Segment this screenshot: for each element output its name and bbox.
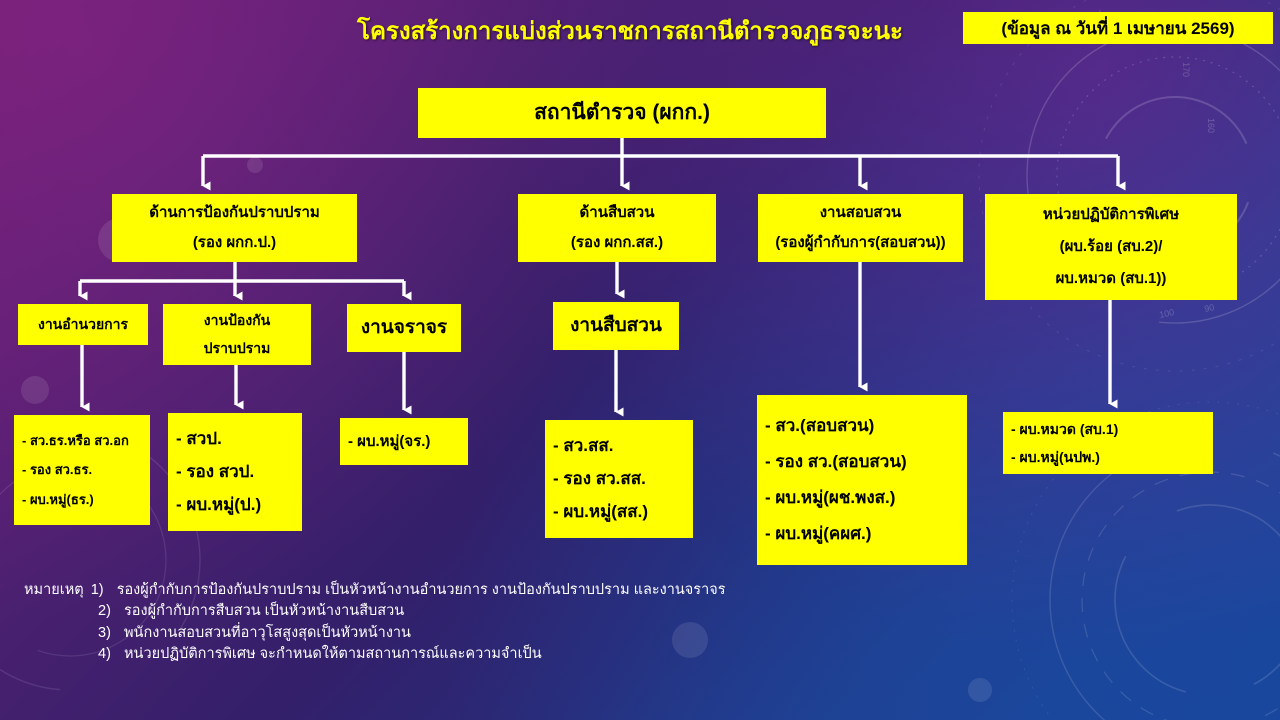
footnote-number: 2) <box>98 601 124 622</box>
footnote-number: 1) <box>91 580 117 601</box>
footnote-number: 3) <box>98 623 124 644</box>
footnote-row: 2) รองผู้กำกับการสืบสวน เป็นหัวหน้างานสื… <box>24 601 924 622</box>
footnote-text: รองผู้กำกับการสืบสวน เป็นหัวหน้างานสืบสว… <box>124 601 404 622</box>
footnote-row: 3) พนักงานสอบสวนที่อาวุโสสูงสุดเป็นหัวหน… <box>24 623 924 644</box>
footnote-row: 4) หน่วยปฏิบัติการพิเศษ จะกำหนดให้ตามสถา… <box>24 644 924 665</box>
node-suppression[interactable]: งานป้องกัน ปราบปราม <box>163 304 311 365</box>
footnote-text: หน่วยปฏิบัติการพิเศษ จะกำหนดให้ตามสถานกา… <box>124 644 542 665</box>
node-admin-line-0: งานอำนวยการ <box>14 315 152 334</box>
node-special-staff[interactable]: - ผบ.หมวด (สบ.1) - ผบ.หมู่(นปพ.) <box>1003 412 1213 474</box>
node-prevention[interactable]: ด้านการป้องกันปราบปราม (รอง ผกก.ป.) <box>112 194 357 262</box>
node-inquiry[interactable]: งานสอบสวน (รองผู้กำกับการ(สอบสวน)) <box>758 194 963 262</box>
node-prevention-line-1: (รอง ผกก.ป.) <box>108 233 361 253</box>
node-special-unit-line-1: (ผบ.ร้อย (สบ.2)/ <box>981 237 1241 257</box>
node-traffic-staff-line-0: - ผบ.หมู่(จร.) <box>340 434 476 450</box>
svg-text:170: 170 <box>1181 62 1191 77</box>
node-special-unit-line-0: หน่วยปฏิบัติการพิเศษ <box>981 205 1241 225</box>
org-chart-slide: 170 160 100 90 <box>0 0 1280 720</box>
footnotes: หมายเหตุ 1) รองผู้กำกับการป้องกันปราบปรา… <box>24 580 924 666</box>
node-admin[interactable]: งานอำนวยการ <box>18 304 148 345</box>
node-traffic-staff[interactable]: - ผบ.หมู่(จร.) <box>340 418 468 465</box>
node-investigation-unit-line-0: งานสืบสวน <box>549 314 683 338</box>
footnotes-label: หมายเหตุ <box>24 580 91 601</box>
node-special-unit-line-2: ผบ.หมวด (สบ.1)) <box>981 269 1241 289</box>
node-admin-staff[interactable]: - สว.ธร.หรือ สว.อก - รอง สว.ธร. - ผบ.หมู… <box>14 415 150 525</box>
node-inquiry-line-1: (รองผู้กำกับการ(สอบสวน)) <box>754 233 967 253</box>
node-investigation-line-0: ด้านสืบสวน <box>514 203 720 223</box>
node-special-staff-line-0: - ผบ.หมวด (สบ.1) <box>1003 422 1221 437</box>
node-inquiry-line-0: งานสอบสวน <box>754 203 967 223</box>
node-root-line-0: สถานีตำรวจ (ผกก.) <box>414 100 830 126</box>
node-suppression-staff-line-0: - สวป. <box>168 430 310 448</box>
date-badge: (ข้อมูล ณ วันที่ 1 เมษายน 2569) <box>963 12 1273 44</box>
node-admin-staff-line-1: - รอง สว.ธร. <box>14 463 158 477</box>
node-investigation-unit[interactable]: งานสืบสวน <box>553 302 679 350</box>
node-inquiry-staff[interactable]: - สว.(สอบสวน) - รอง สว.(สอบสวน) - ผบ.หมู… <box>757 395 967 565</box>
node-investigation[interactable]: ด้านสืบสวน (รอง ผกก.สส.) <box>518 194 716 262</box>
node-investigation-staff-line-2: - ผบ.หมู่(สส.) <box>545 503 701 521</box>
footnote-number: 4) <box>98 644 124 665</box>
svg-text:100: 100 <box>1158 307 1175 320</box>
node-inquiry-staff-line-2: - ผบ.หมู่(ผช.พงส.) <box>757 489 975 507</box>
node-traffic-line-0: งานจราจร <box>343 316 465 340</box>
node-inquiry-staff-line-3: - ผบ.หมู่(คผศ.) <box>757 525 975 543</box>
node-suppression-staff-line-1: - รอง สวป. <box>168 463 310 481</box>
node-investigation-staff[interactable]: - สว.สส. - รอง สว.สส. - ผบ.หมู่(สส.) <box>545 420 693 538</box>
footnote-text: รองผู้กำกับการป้องกันปราบปราม เป็นหัวหน้… <box>117 580 726 601</box>
node-special-unit[interactable]: หน่วยปฏิบัติการพิเศษ (ผบ.ร้อย (สบ.2)/ ผบ… <box>985 194 1237 300</box>
node-traffic[interactable]: งานจราจร <box>347 304 461 352</box>
footnote-indent <box>24 601 98 622</box>
footnote-indent <box>24 623 98 644</box>
page-title: โครงสร้างการแบ่งส่วนราชการสถานีตำรวจภูธร… <box>300 10 960 50</box>
footnote-text: พนักงานสอบสวนที่อาวุโสสูงสุดเป็นหัวหน้าง… <box>124 623 411 644</box>
node-inquiry-staff-line-0: - สว.(สอบสวน) <box>757 417 975 435</box>
node-inquiry-staff-line-1: - รอง สว.(สอบสวน) <box>757 453 975 471</box>
node-investigation-line-1: (รอง ผกก.สส.) <box>514 233 720 253</box>
svg-text:160: 160 <box>1206 118 1216 133</box>
footnote-row: หมายเหตุ 1) รองผู้กำกับการป้องกันปราบปรา… <box>24 580 924 601</box>
node-root[interactable]: สถานีตำรวจ (ผกก.) <box>418 88 826 138</box>
svg-text:90: 90 <box>1203 302 1215 314</box>
node-prevention-line-0: ด้านการป้องกันปราบปราม <box>108 203 361 223</box>
node-suppression-staff-line-2: - ผบ.หมู่(ป.) <box>168 496 310 514</box>
node-investigation-staff-line-0: - สว.สส. <box>545 437 701 455</box>
footnote-indent <box>24 644 98 665</box>
node-admin-staff-line-2: - ผบ.หมู่(ธร.) <box>14 493 158 507</box>
node-admin-staff-line-0: - สว.ธร.หรือ สว.อก <box>14 434 158 448</box>
node-special-staff-line-1: - ผบ.หมู่(นปพ.) <box>1003 450 1221 465</box>
node-suppression-line-1: ปราบปราม <box>159 339 315 358</box>
node-investigation-staff-line-1: - รอง สว.สส. <box>545 470 701 488</box>
node-suppression-staff[interactable]: - สวป. - รอง สวป. - ผบ.หมู่(ป.) <box>168 413 302 531</box>
node-suppression-line-0: งานป้องกัน <box>159 311 315 330</box>
